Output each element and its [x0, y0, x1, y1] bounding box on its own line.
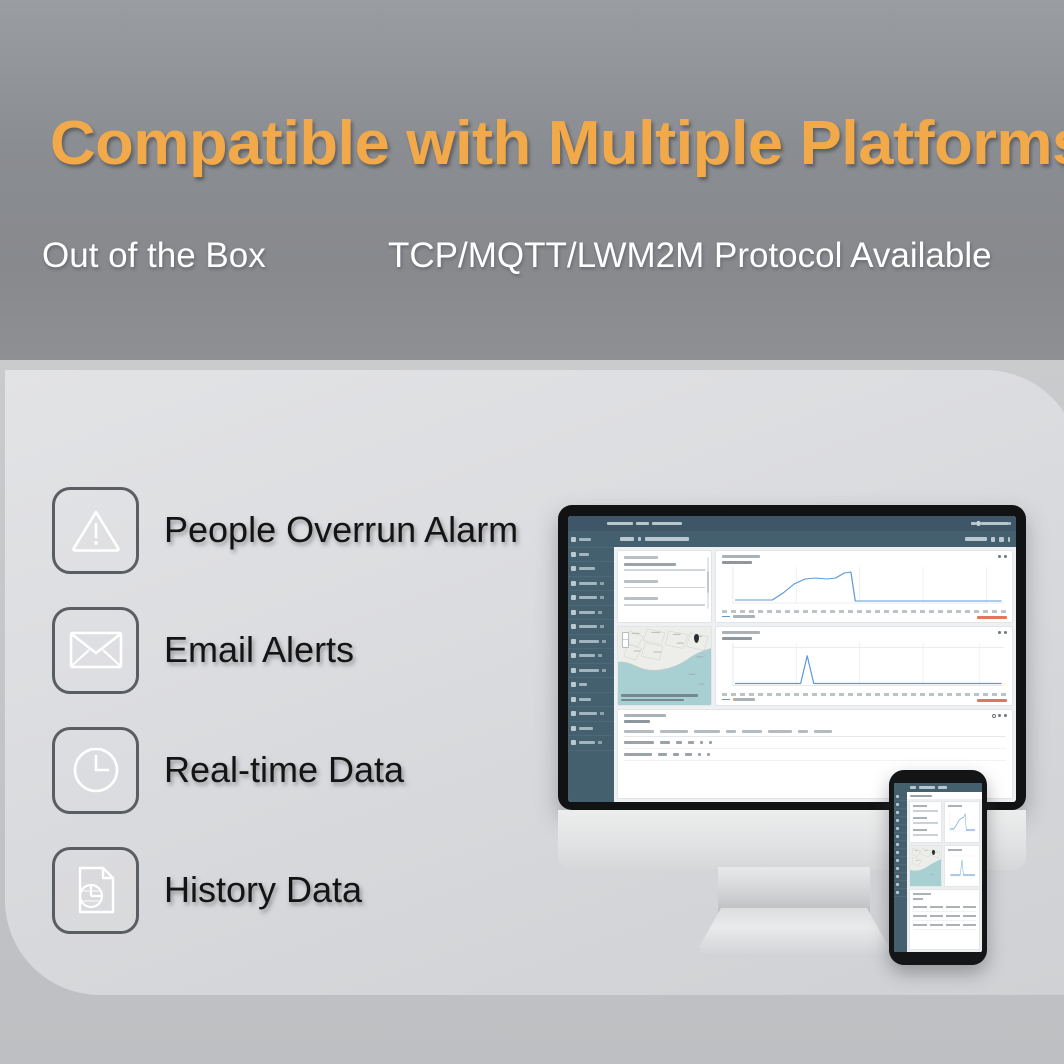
user-icon	[896, 819, 899, 822]
document-chart-icon	[52, 847, 139, 934]
topbar-menu-icon[interactable]	[1009, 522, 1011, 526]
phone-sidebar-item-logs[interactable]	[894, 881, 907, 889]
feature-item-email-alerts: Email Alerts	[52, 608, 518, 692]
feature-list: People Overrun Alarm Email Alerts Real-t…	[52, 488, 518, 968]
log-icon	[896, 883, 899, 886]
home-icon	[896, 795, 899, 798]
dashboard-topbar	[568, 516, 1016, 531]
column-header-rssi	[726, 730, 736, 733]
dashboard-row-2	[617, 626, 1013, 706]
table-menu-icon[interactable]	[1004, 714, 1007, 717]
sidebar-item-devices[interactable]	[568, 548, 614, 563]
longitude-field[interactable]	[624, 604, 705, 606]
feature-label: Email Alerts	[164, 629, 354, 671]
phone-breadcrumb[interactable]	[919, 786, 935, 790]
cell-time	[624, 753, 652, 756]
chevron-down-icon	[600, 582, 604, 585]
alert-annotation-secondary	[985, 705, 1007, 706]
clock-icon	[52, 727, 139, 814]
chart-title-door-sensor	[722, 631, 760, 634]
dashboard	[568, 516, 1016, 802]
device-name-field[interactable]	[624, 569, 705, 571]
sidebar-item-users[interactable]	[568, 577, 614, 592]
phone-content	[907, 799, 982, 952]
chevron-down-icon	[600, 596, 604, 599]
breadcrumb-device-label[interactable]	[620, 537, 634, 541]
phone-sidebar-item-alarms[interactable]	[894, 849, 907, 857]
column-header-port	[798, 730, 808, 733]
chart-x-axis-labels	[722, 610, 1006, 613]
cell-device	[658, 753, 667, 756]
account-email-label	[981, 522, 1009, 526]
door-sensor-chart-card	[715, 626, 1013, 706]
home-icon	[571, 537, 576, 542]
feature-label: People Overrun Alarm	[164, 509, 518, 551]
phone-row-2	[909, 845, 980, 887]
chevron-down-icon	[602, 669, 606, 672]
door-sensor-plot	[722, 643, 1006, 692]
table-expand-icon[interactable]	[998, 714, 1001, 717]
device-id-label	[645, 537, 689, 541]
product-icon	[571, 595, 576, 600]
table-title	[624, 714, 666, 717]
dashboard-sidebar	[568, 531, 614, 802]
phone-device-id	[910, 795, 932, 797]
network-icon	[571, 668, 576, 673]
latitude-label	[624, 580, 658, 583]
sidebar-item-rules[interactable]	[568, 649, 614, 664]
billing-icon	[571, 711, 576, 716]
feature-label: Real-time Data	[164, 749, 404, 791]
group-icon	[571, 566, 576, 571]
feature-item-real-time-data: Real-time Data	[52, 728, 518, 812]
table-header-row	[624, 730, 1006, 737]
cell-count	[707, 753, 710, 756]
chart-subtitle-door-sensor	[722, 637, 752, 640]
column-header-snr	[742, 730, 762, 733]
dashboard-content	[614, 547, 1016, 802]
phone-sidebar-item-rules[interactable]	[894, 857, 907, 865]
sidebar-item-alarms[interactable]	[568, 635, 614, 650]
report-icon	[896, 835, 899, 838]
cell-snr	[698, 753, 701, 756]
phone-map-landmass	[910, 846, 941, 886]
chevron-down-icon	[600, 712, 604, 715]
phone-device-info-card	[909, 801, 942, 843]
page-title: Compatible with Multiple Platforms	[50, 108, 1050, 179]
phone-chart-plot-2	[948, 854, 976, 880]
sidebar-item-reports[interactable]	[568, 606, 614, 621]
people-counter-plot	[722, 567, 1006, 609]
background-upper	[0, 0, 1064, 380]
legend-label	[733, 615, 755, 618]
phone-table-row[interactable]	[913, 921, 976, 930]
phone-chart-plot	[948, 810, 976, 834]
latitude-field[interactable]	[624, 587, 705, 589]
sidebar-item-api[interactable]	[568, 678, 614, 693]
legend-line-swatch	[722, 699, 730, 701]
phone-account[interactable]	[938, 786, 947, 790]
phone-sidebar-item-reports[interactable]	[894, 833, 907, 841]
map-zoom-out-icon	[623, 640, 628, 647]
sidebar-item-support[interactable]	[568, 722, 614, 737]
phone-sidebar-item-data[interactable]	[894, 841, 907, 849]
chart-toolbar[interactable]	[998, 631, 1007, 634]
monitor-screen	[558, 505, 1026, 810]
feature-label: History Data	[164, 869, 362, 911]
people-counter-chart-card	[715, 550, 1013, 623]
sidebar-item-settings[interactable]	[568, 736, 614, 751]
phone-map-card	[909, 845, 942, 887]
chart-legend	[722, 615, 1006, 618]
card-title-device-info	[624, 556, 658, 559]
dashboard-body	[568, 531, 1016, 802]
phone-page-header	[907, 792, 982, 799]
cell-snr	[700, 741, 703, 744]
sidebar-item-network[interactable]	[568, 664, 614, 679]
save-icon[interactable]	[999, 537, 1004, 542]
chart-menu-icon[interactable]	[1004, 631, 1007, 634]
sidebar-item-home[interactable]	[568, 533, 614, 548]
cell-rssi	[688, 741, 694, 744]
gear-icon	[571, 740, 576, 745]
sidebar-item-billing[interactable]	[568, 707, 614, 722]
longitude-label	[624, 597, 658, 600]
legend-label	[733, 698, 755, 701]
column-header-payload	[694, 730, 720, 733]
subtitle-right: TCP/MQTT/LWM2M Protocol Available	[388, 236, 992, 276]
phone-data-table-card	[909, 889, 980, 950]
phone-people-counter-chart	[944, 801, 980, 843]
data-icon	[896, 843, 899, 846]
rules-icon	[896, 859, 899, 862]
product-icon	[896, 827, 899, 830]
legend-line-swatch	[722, 616, 730, 618]
data-icon	[571, 624, 576, 629]
chart-expand-icon[interactable]	[998, 631, 1001, 634]
download-icon[interactable]	[991, 537, 995, 542]
chart-x-axis-labels	[722, 693, 1006, 696]
chart-menu-icon[interactable]	[1004, 555, 1007, 558]
cell-payload	[676, 741, 682, 744]
gear-icon	[896, 891, 899, 894]
sidebar-item-products[interactable]	[568, 591, 614, 606]
map-zoom-in-icon	[623, 633, 628, 640]
group-icon	[896, 811, 899, 814]
user-icon	[571, 581, 576, 586]
search-icon[interactable]	[992, 714, 996, 718]
phone-table-header-row	[913, 903, 976, 912]
phone-sidebar	[894, 783, 907, 952]
column-header-count	[768, 730, 792, 733]
phone-sidebar-item-groups[interactable]	[894, 809, 907, 817]
phone-table-row[interactable]	[913, 912, 976, 921]
phone-row-1	[909, 801, 980, 843]
phone-sidebar-item-users[interactable]	[894, 817, 907, 825]
cell-payload	[673, 753, 679, 756]
phone-main	[907, 783, 982, 952]
chart-expand-icon[interactable]	[998, 555, 1001, 558]
sidebar-item-data[interactable]	[568, 620, 614, 635]
device-icon	[896, 803, 899, 806]
chart-toolbar[interactable]	[998, 555, 1007, 558]
map-attribution	[621, 694, 708, 703]
phone-screen	[894, 783, 982, 952]
alert-annotation	[977, 699, 1007, 702]
table-subtitle	[624, 720, 650, 723]
api-icon	[571, 682, 576, 687]
device-icon	[571, 552, 576, 557]
phone-menu-icon[interactable]	[910, 786, 916, 790]
device-info-card	[617, 550, 712, 623]
page-header-bar	[614, 531, 1016, 547]
table-toolbar[interactable]	[998, 714, 1007, 717]
alert-annotation	[977, 616, 1007, 619]
api-icon	[896, 875, 899, 878]
support-icon	[571, 726, 576, 731]
rules-icon	[571, 653, 576, 658]
subtitle-left: Out of the Box	[42, 236, 266, 276]
report-icon	[571, 610, 576, 615]
table-row[interactable]	[624, 737, 1006, 749]
phone-sidebar-item-settings[interactable]	[894, 889, 907, 897]
chevron-down-icon	[600, 625, 604, 628]
column-header-time	[624, 730, 654, 733]
dashboard-main	[614, 531, 1016, 802]
table-row[interactable]	[624, 749, 1006, 761]
product-selector[interactable]	[965, 537, 987, 541]
sidebar-item-groups[interactable]	[568, 562, 614, 577]
feature-item-people-overrun-alarm: People Overrun Alarm	[52, 488, 518, 572]
chevron-right-icon	[638, 537, 641, 541]
dashboard-row-1	[617, 550, 1013, 623]
monitor-stand-neck	[718, 867, 870, 915]
device-name-value	[624, 563, 676, 566]
form-scrollbar[interactable]	[707, 557, 709, 609]
column-header-device	[660, 730, 688, 733]
phone-topbar	[907, 783, 982, 792]
chart-subtitle-people-counter	[722, 561, 752, 564]
column-header-status	[814, 730, 832, 733]
envelope-icon	[52, 607, 139, 694]
phone-door-sensor-chart	[944, 845, 980, 887]
cell-device	[660, 741, 670, 744]
chevron-down-icon	[602, 640, 606, 643]
network-icon	[896, 867, 899, 870]
phone-sidebar-item-api[interactable]	[894, 873, 907, 881]
breadcrumb-platform[interactable]	[607, 522, 633, 526]
chart-legend	[722, 698, 1006, 701]
breadcrumb-people-counter[interactable]	[652, 522, 682, 526]
phone-sidebar-item-home[interactable]	[894, 793, 907, 801]
phone-sidebar-item-products[interactable]	[894, 825, 907, 833]
cell-time	[624, 741, 654, 744]
breadcrumb-workspace[interactable]	[636, 522, 649, 526]
alarm-icon	[896, 851, 899, 854]
warning-triangle-icon	[52, 487, 139, 574]
chevron-down-icon	[598, 611, 602, 614]
phone-sidebar-item-network[interactable]	[894, 865, 907, 873]
log-icon	[571, 697, 576, 702]
smartphone	[889, 770, 987, 965]
chevron-down-icon	[598, 654, 602, 657]
cell-count	[709, 741, 712, 744]
feature-item-history-data: History Data	[52, 848, 518, 932]
sidebar-item-logs[interactable]	[568, 693, 614, 708]
monitor-stand-base	[698, 908, 890, 956]
cell-rssi	[685, 753, 692, 756]
more-options-icon[interactable]	[1008, 537, 1010, 542]
device-location-map-card	[617, 626, 712, 706]
chart-title-people-counter	[722, 555, 760, 558]
map-zoom-controls[interactable]	[622, 632, 629, 648]
phone-sidebar-item-devices[interactable]	[894, 801, 907, 809]
alarm-icon	[571, 639, 576, 644]
chevron-down-icon	[598, 741, 602, 744]
